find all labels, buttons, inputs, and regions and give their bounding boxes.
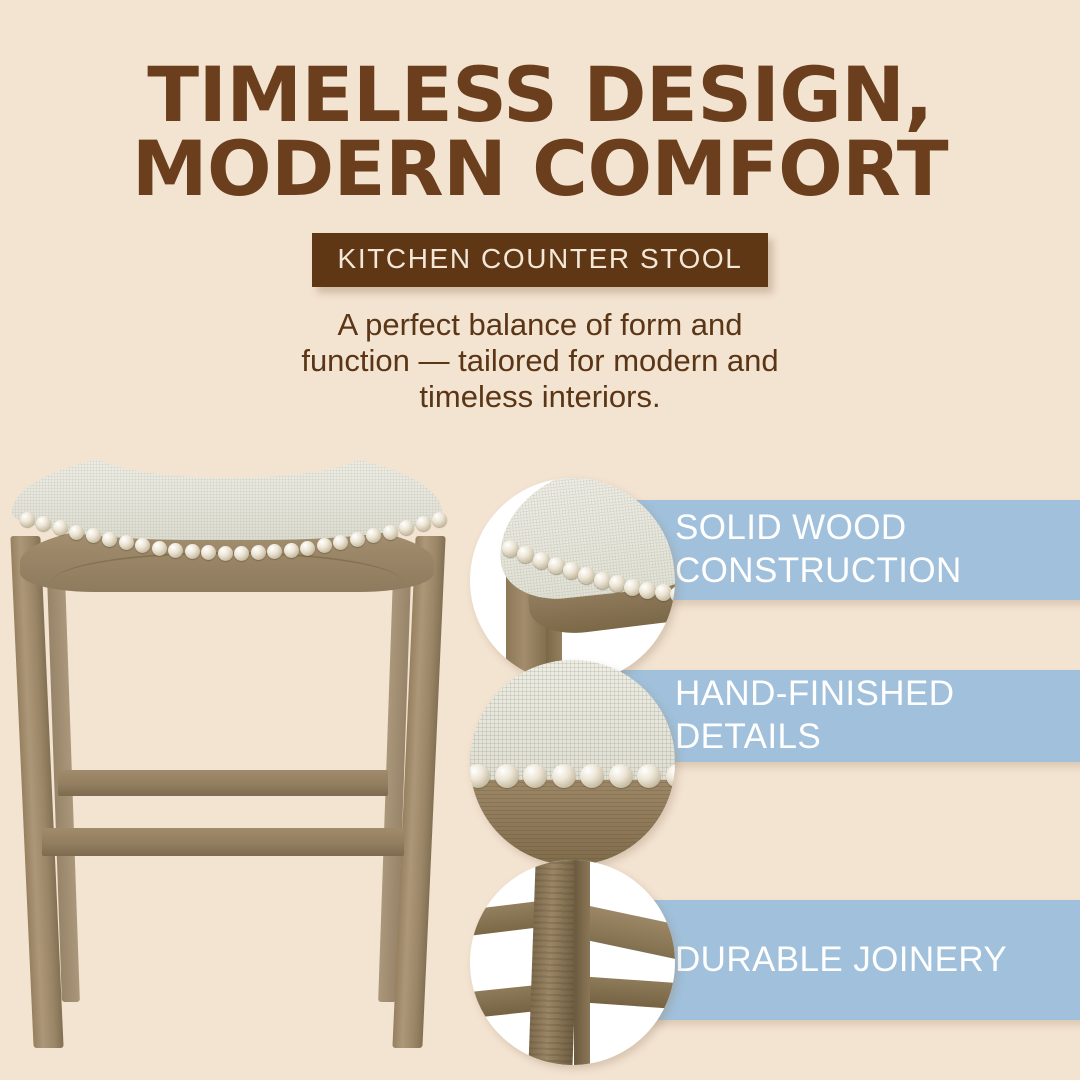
feature-label-3-line1: DURABLE JOINERY [675,939,1007,982]
feature-label-1-line1: SOLID WOOD [675,507,962,550]
nailhead-stud [69,525,84,540]
feature-label-3: DURABLE JOINERY [675,939,1007,982]
nailhead-stud [383,525,398,540]
nailhead-stud [432,512,447,527]
nailhead-stud [495,764,519,788]
nailhead-stud [533,552,550,569]
product-description: A perfect balance of form and function —… [0,307,1080,415]
header: TIMELESS DESIGN, MODERN COMFORT KITCHEN … [0,0,1080,415]
feature-label-1: SOLID WOOD CONSTRUCTION [675,507,962,592]
stool-back-stretcher [58,770,388,796]
stool-front-stretcher [42,828,404,856]
stool-seat-saddle-dip [89,420,369,478]
feature-detail-image-3 [470,860,675,1065]
product-image-main [0,440,464,1060]
nailhead-stud [399,520,414,535]
description-line2: function — tailored for modern and [0,343,1080,379]
nailhead-stud [416,516,431,531]
nailhead-stud [218,546,233,561]
feature-detail-image-2 [470,660,675,865]
nailhead-stud [639,582,656,599]
nailhead-stud [552,764,576,788]
feature-label-2-line1: HAND-FINISHED [675,673,954,716]
feature-label-2: HAND-FINISHED DETAILS [675,673,954,758]
nailhead-stud [523,764,547,788]
nailhead-stud [317,538,332,553]
description-line1: A perfect balance of form and [0,307,1080,343]
nailhead-stud [168,543,183,558]
description-line3: timeless interiors. [0,379,1080,415]
nailhead-stud [152,541,167,556]
nailhead-stud [300,541,315,556]
feature-detail-image-1 [470,478,675,683]
nailhead-stud [350,532,365,547]
nailhead-stud [20,512,35,527]
product-category-badge: KITCHEN COUNTER STOOL [312,233,769,287]
nailhead-stud [609,764,633,788]
badge-wrap: KITCHEN COUNTER STOOL [0,233,1080,287]
feature-label-1-line2: CONSTRUCTION [675,550,962,593]
product-infographic: TIMELESS DESIGN, MODERN COMFORT KITCHEN … [0,0,1080,1080]
detail-2-wood [470,780,675,865]
page-title-line1: TIMELESS DESIGN, [0,0,1080,132]
detail-3-leg-secondary [574,860,590,1065]
feature-label-2-line2: DETAILS [675,716,954,759]
nailhead-stud [284,543,299,558]
nailhead-stud [594,572,611,589]
detail-3-leg [528,860,580,1065]
page-title-line2: MODERN COMFORT [0,132,1080,206]
